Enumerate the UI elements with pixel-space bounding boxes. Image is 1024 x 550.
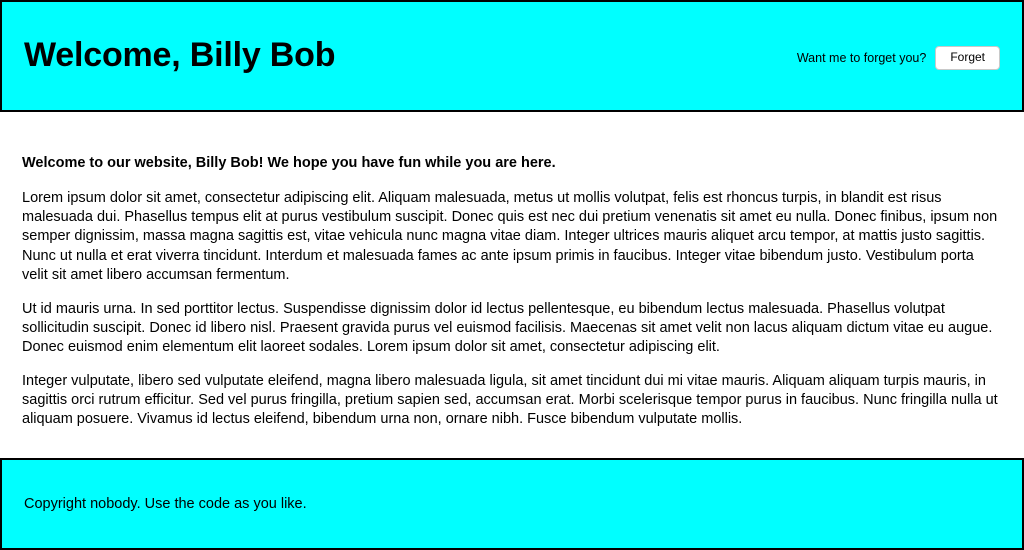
main-content: Welcome to our website, Billy Bob! We ho… [0,112,1024,458]
body-paragraph: Integer vulputate, libero sed vulputate … [22,372,1000,429]
site-header: Welcome, Billy Bob Want me to forget you… [0,0,1024,112]
site-footer: Copyright nobody. Use the code as you li… [0,458,1024,550]
page-title: Welcome, Billy Bob [24,37,335,74]
welcome-intro-text: Welcome to our website, Billy Bob! We ho… [22,154,1000,172]
body-paragraph: Lorem ipsum dolor sit amet, consectetur … [22,189,1000,285]
body-paragraph: Ut id mauris urna. In sed porttitor lect… [22,300,1000,357]
forget-prompt-label: Want me to forget you? [797,51,926,65]
page-root: Welcome, Billy Bob Want me to forget you… [0,0,1024,550]
forget-area: Want me to forget you? Forget [797,46,1000,70]
copyright-text: Copyright nobody. Use the code as you li… [24,495,307,514]
forget-button[interactable]: Forget [935,46,1000,70]
